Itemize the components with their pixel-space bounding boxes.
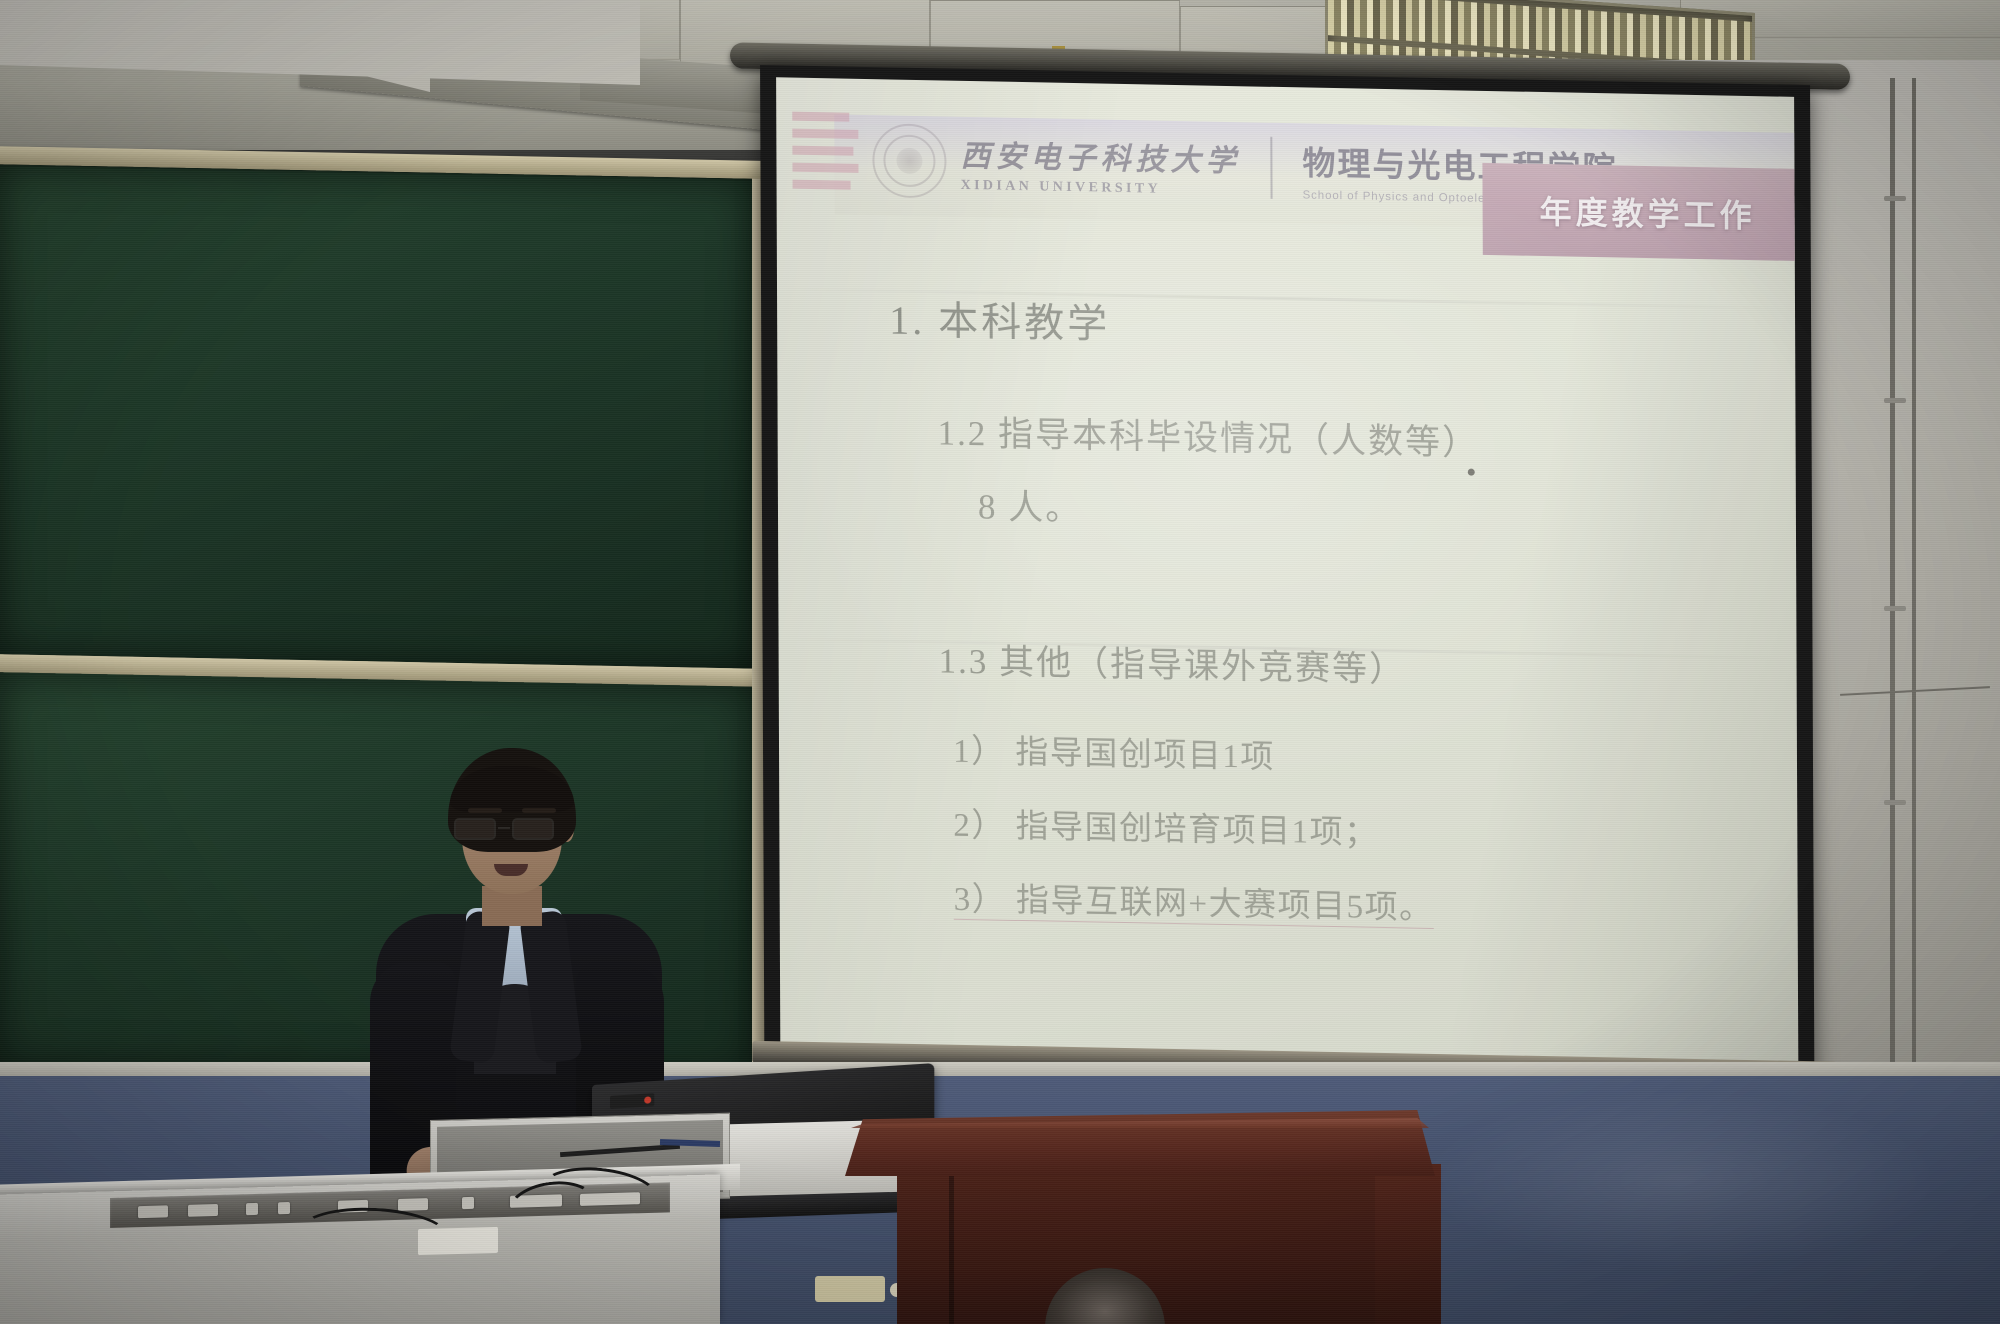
slide-list-item: 2） 指导国创培育项目1项； (953, 798, 1733, 861)
pink-stripes-decoration-icon (792, 112, 858, 217)
university-name-cn: 西安电子科技大学 (960, 130, 1240, 179)
slide-title-banner: 年度教学工作 (1482, 163, 1798, 261)
console-button[interactable] (188, 1204, 218, 1217)
lecture-hall-scene: 西安电子科技大学 XIDIAN UNIVERSITY 物理与光电工程学院 Sch… (0, 0, 2000, 1324)
slide-list-item-underlined: 3） 指导互联网+大赛项目5项。 (954, 882, 1434, 929)
slide-item-1-3: 1.3 其他（指导课外竞赛等） (939, 632, 1733, 698)
projection-screen: 西安电子科技大学 XIDIAN UNIVERSITY 物理与光电工程学院 Sch… (760, 55, 1824, 1085)
wall-cable (1890, 78, 1895, 1078)
lectern-side-panel (1375, 1164, 1441, 1324)
console-button[interactable] (462, 1197, 474, 1209)
slide-section-heading: 1. 本科教学 (889, 287, 1731, 361)
presenter-eyebrow-left (468, 808, 502, 813)
slide: 西安电子科技大学 XIDIAN UNIVERSITY 物理与光电工程学院 Sch… (776, 77, 1798, 1067)
university-crest-icon (872, 123, 946, 198)
cable-clip (1884, 398, 1906, 403)
screen-surface: 西安电子科技大学 XIDIAN UNIVERSITY 物理与光电工程学院 Sch… (776, 77, 1798, 1067)
glasses-lens-left (454, 818, 496, 840)
console-button[interactable] (278, 1202, 290, 1214)
slide-body: 1. 本科教学 1.2 指导本科毕设情况（人数等） 8 人。 1.3 其他（指导… (777, 247, 1798, 936)
cable-clip (1884, 800, 1906, 805)
console-button[interactable] (246, 1203, 258, 1215)
lectern-seam (949, 1170, 954, 1324)
presenter-eyebrow-right (522, 808, 556, 813)
presenter-glasses-icon (454, 818, 572, 842)
chalkboard-panel-upper (0, 164, 752, 668)
university-name-block: 西安电子科技大学 XIDIAN UNIVERSITY (960, 130, 1240, 198)
console-button[interactable] (138, 1205, 168, 1218)
glasses-bridge (498, 827, 510, 829)
screen-speck (1468, 469, 1475, 476)
console-button[interactable] (398, 1198, 428, 1211)
slide-list-item: 3） 指导互联网+大赛项目5项。 (954, 872, 1734, 935)
cable-clip (1884, 196, 1906, 201)
wall-cable (1912, 78, 1916, 1088)
header-divider (1270, 137, 1272, 199)
slide-title-text: 年度教学工作 (1539, 187, 1755, 237)
laptop-brand-logo-icon (610, 1093, 654, 1109)
wainscot-sheen (1420, 1090, 1940, 1270)
slide-item-1-2: 1.2 指导本科毕设情况（人数等） (938, 404, 1732, 470)
cable-clip (1884, 606, 1906, 611)
university-name-en: XIDIAN UNIVERSITY (961, 177, 1241, 198)
glasses-lens-right (512, 818, 554, 840)
slide-header: 西安电子科技大学 XIDIAN UNIVERSITY 物理与光电工程学院 Sch… (776, 105, 1794, 241)
slide-list-item: 1） 指导国创项目1项 (953, 724, 1733, 787)
